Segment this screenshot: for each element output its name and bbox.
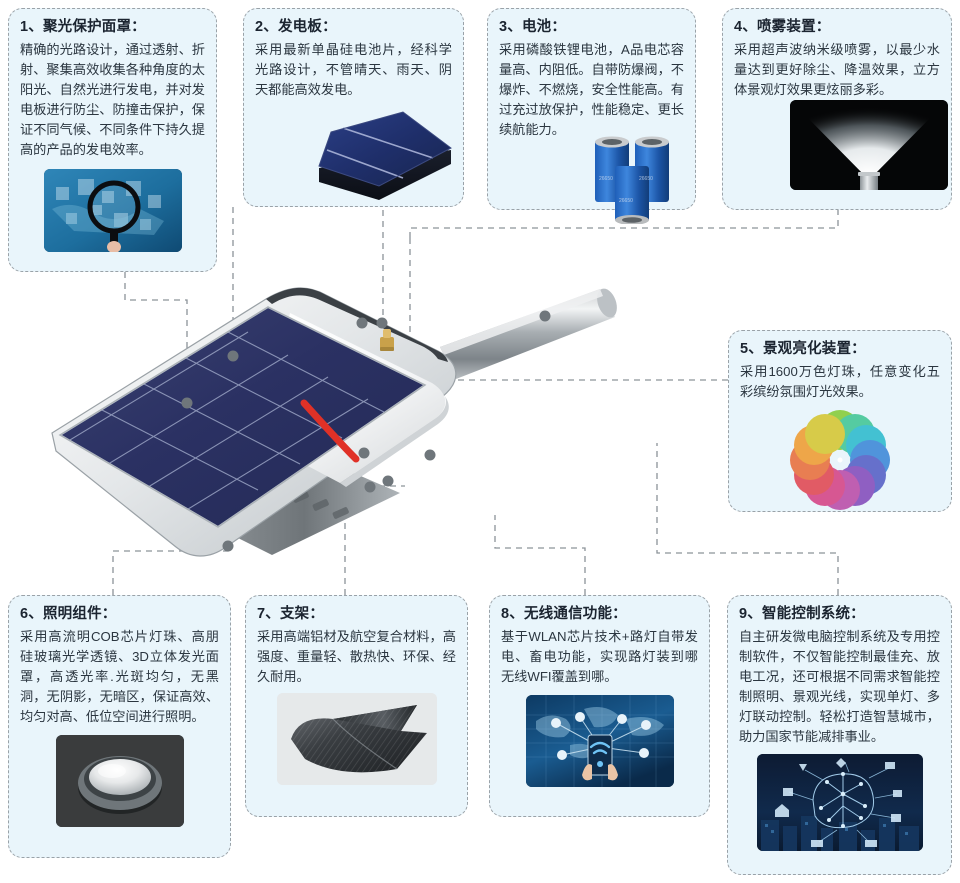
card-title: 6、照明组件： <box>20 605 219 625</box>
card-title: 3、电池： <box>499 18 684 38</box>
feature-card-3[interactable]: 3、电池： 采用磷酸铁锂电池，A品电芯容量高、内阻低。自带防爆阀，不爆炸、不燃烧… <box>487 8 696 210</box>
wifi-phone-globe-icon <box>526 695 674 787</box>
svg-text:26650: 26650 <box>619 198 633 204</box>
feature-card-6[interactable]: 6、照明组件： 采用高流明COB芯片灯珠、高朋硅玻璃光学透镜、3D立体发光面罩，… <box>8 595 231 858</box>
feature-card-1[interactable]: 1、聚光保护面罩： 精确的光路设计，通过透射、折射、聚集高效收集各种角度的太阳光… <box>8 8 217 272</box>
mist-spray-nozzle-icon <box>790 100 948 190</box>
feature-card-2[interactable]: 2、发电板： 采用最新单晶硅电池片，经科学光路设计，不管晴天、雨天、阴天都能高效… <box>243 8 464 207</box>
feature-card-8[interactable]: 8、无线通信功能： 基于WLAN芯片技术+路灯自带发电、畜电功能，实现路灯装到哪… <box>489 595 710 817</box>
lithium-battery-cells-icon: 266502665026650 <box>577 132 697 224</box>
solar-street-light-illustration <box>40 255 660 600</box>
card-body: 采用1600万色灯珠，任意变化五彩缤纷氛围灯光效果。 <box>740 362 940 402</box>
card-title: 8、无线通信功能： <box>501 605 698 625</box>
carbon-fiber-bracket-icon <box>277 693 437 785</box>
svg-text:26650: 26650 <box>599 176 613 182</box>
optical-lens-icon <box>56 735 184 827</box>
card-title: 5、景观亮化装置： <box>740 340 940 360</box>
solar-cell-icon <box>283 102 463 202</box>
smart-city-brain-icon <box>757 754 923 851</box>
card-body: 采用超声波纳米级喷雾，以最少水量达到更好除尘、降温效果，立方体景观灯效果更炫丽多… <box>734 40 940 100</box>
card-body: 采用高流明COB芯片灯珠、高朋硅玻璃光学透镜、3D立体发光面罩，高透光率.光斑均… <box>20 627 219 727</box>
card-title: 7、支架： <box>257 605 456 625</box>
color-wheel-icon <box>782 406 898 514</box>
magnifier-over-data-icon <box>44 169 182 252</box>
card-body: 自主研发微电脑控制系统及专用控制软件，不仅智能控制最佳充、放电工况，还可根据不同… <box>739 627 940 747</box>
card-title: 4、喷雾装置： <box>734 18 940 38</box>
card-body: 基于WLAN芯片技术+路灯自带发电、畜电功能，实现路灯装到哪无线WFI覆盖到哪。 <box>501 627 698 687</box>
feature-card-5[interactable]: 5、景观亮化装置： 采用1600万色灯珠，任意变化五彩缤纷氛围灯光效果。 <box>728 330 952 512</box>
card-title: 2、发电板： <box>255 18 452 38</box>
diagram-stage: 1、聚光保护面罩： 精确的光路设计，通过透射、折射、聚集高效收集各种角度的太阳光… <box>0 0 960 883</box>
feature-card-7[interactable]: 7、支架： 采用高端铝材及航空复合材料，高强度、重量轻、散热快、环保、经久耐用。 <box>245 595 468 817</box>
card-body: 采用最新单晶硅电池片，经科学光路设计，不管晴天、雨天、阴天都能高效发电。 <box>255 40 452 100</box>
card-body: 采用高端铝材及航空复合材料，高强度、重量轻、散热快、环保、经久耐用。 <box>257 627 456 687</box>
card-title: 1、聚光保护面罩： <box>20 18 205 38</box>
svg-text:26650: 26650 <box>639 176 653 182</box>
card-title: 9、智能控制系统： <box>739 605 940 625</box>
feature-card-4[interactable]: 4、喷雾装置： 采用超声波纳米级喷雾，以最少水量达到更好除尘、降温效果，立方体景… <box>722 8 952 210</box>
card-body: 采用磷酸铁锂电池，A品电芯容量高、内阻低。自带防爆阀，不爆炸、不燃烧，安全性能高… <box>499 40 684 140</box>
card-body: 精确的光路设计，通过透射、折射、聚集高效收集各种角度的太阳光、自然光进行发电，并… <box>20 40 205 160</box>
feature-card-9[interactable]: 9、智能控制系统： 自主研发微电脑控制系统及专用控制软件，不仅智能控制最佳充、放… <box>727 595 952 875</box>
